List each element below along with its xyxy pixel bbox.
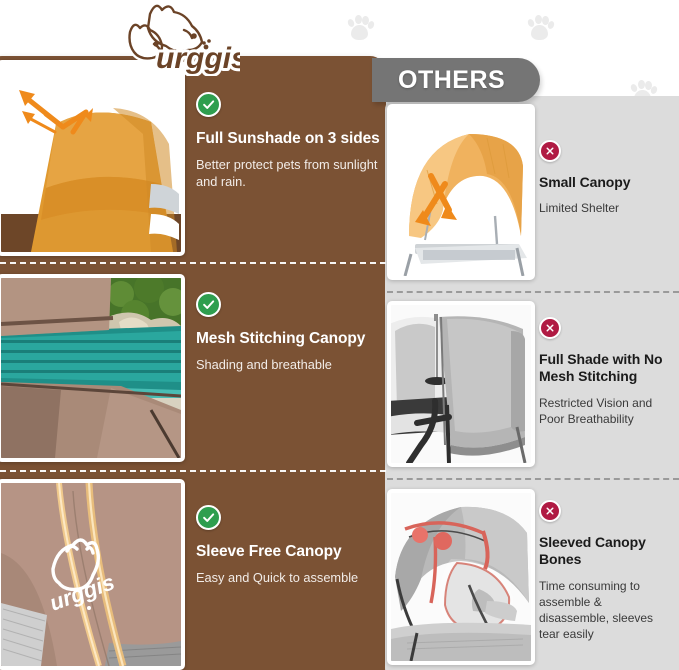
others-header-banner: OTHERS: [372, 58, 540, 102]
paw-print-icon: [345, 13, 375, 43]
check-circle-icon: [196, 292, 221, 317]
check-circle-icon: [196, 92, 221, 117]
others-divider-2: [387, 478, 679, 480]
ours-item-3: Sleeve Free Canopy Easy and Quick to ass…: [196, 505, 382, 587]
ours-item-1: Full Sunshade on 3 sides Better protect …: [196, 92, 382, 191]
ours-item-2-title: Mesh Stitching Canopy: [196, 330, 382, 349]
others-image-1: [387, 104, 535, 280]
ours-item-2: Mesh Stitching Canopy Shading and breath…: [196, 292, 382, 374]
ours-image-1: [0, 60, 185, 256]
others-item-1: Small Canopy Limited Shelter: [539, 140, 671, 217]
ours-item-2-subtitle: Shading and breathable: [196, 357, 382, 374]
check-circle-icon: [196, 505, 221, 530]
others-item-2: Full Shade with No Mesh Stitching Restri…: [539, 317, 671, 427]
ours-item-3-title: Sleeve Free Canopy: [196, 543, 382, 562]
others-item-1-title: Small Canopy: [539, 174, 671, 191]
ours-item-1-subtitle: Better protect pets from sunlight and ra…: [196, 157, 382, 191]
others-item-2-subtitle: Restricted Vision and Poor Breathability: [539, 395, 671, 427]
comparison-infographic: OTHERS: [0, 0, 679, 670]
ours-divider-1: [0, 262, 386, 264]
cross-circle-icon: [539, 500, 561, 522]
ours-divider-2: [0, 470, 386, 472]
brand-logo: urggis urggis: [112, 0, 240, 76]
others-image-3: [387, 489, 535, 665]
others-item-3: Sleeved Canopy Bones Time consuming to a…: [539, 500, 671, 642]
others-divider-1: [387, 291, 679, 293]
ours-item-1-title: Full Sunshade on 3 sides: [196, 130, 382, 149]
ours-image-2: [0, 274, 185, 462]
svg-text:urggis: urggis: [156, 42, 240, 75]
others-item-2-title: Full Shade with No Mesh Stitching: [539, 351, 671, 386]
ours-item-3-subtitle: Easy and Quick to assemble: [196, 570, 382, 587]
cross-circle-icon: [539, 317, 561, 339]
others-item-3-subtitle: Time consuming to assemble & disassemble…: [539, 578, 671, 643]
ours-image-3: urggis: [0, 479, 185, 670]
others-item-1-subtitle: Limited Shelter: [539, 200, 671, 216]
paw-print-icon: [525, 13, 555, 43]
others-image-2: [387, 301, 535, 467]
others-item-3-title: Sleeved Canopy Bones: [539, 534, 671, 569]
cross-circle-icon: [539, 140, 561, 162]
others-header-label: OTHERS: [398, 66, 505, 95]
